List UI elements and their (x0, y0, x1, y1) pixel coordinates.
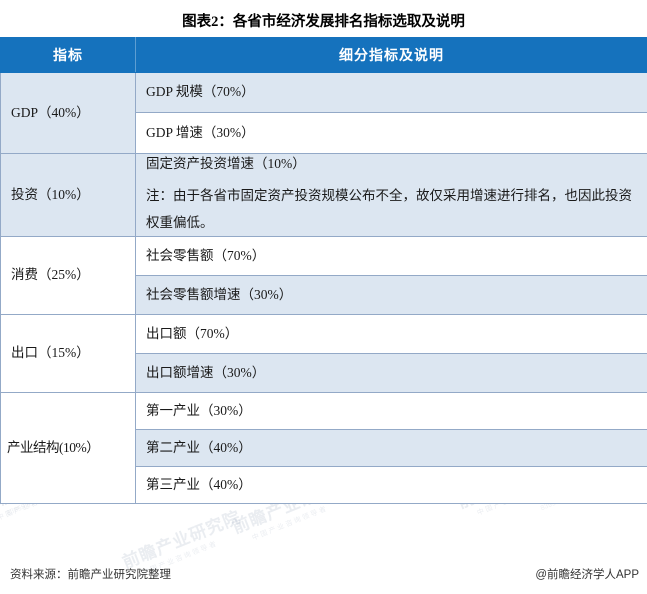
category-cell-investment: 投资（10%） (1, 154, 136, 237)
detail-cell: 社会零售额（70%） (136, 236, 647, 275)
app-attribution-label: @前瞻经济学人APP (535, 566, 639, 582)
category-cell-consumption: 消费（25%） (1, 236, 136, 314)
column-header-sub-indicator: 细分指标及说明 (136, 38, 647, 73)
category-cell-gdp: GDP（40%） (1, 73, 136, 154)
source-label: 资料来源：前瞻产业研究院整理 (10, 566, 171, 582)
category-cell-export: 出口（15%） (1, 314, 136, 392)
detail-cell: 出口额增速（30%） (136, 353, 647, 392)
detail-cell: 第三产业（40%） (136, 466, 647, 503)
indicator-spec-table: 指标 细分指标及说明 GDP（40%） GDP 规模（70%） GDP 增速（3… (0, 37, 647, 504)
detail-note-text: 注：由于各省市固定资产投资规模公布不全，故仅采用增速进行排名，也因此投资权重偏低… (146, 183, 637, 236)
watermark-main-text: 前瞻产业研究院 (118, 503, 244, 573)
table-row: 消费（25%） 社会零售额（70%） (1, 236, 647, 275)
detail-cell: 社会零售额增速（30%） (136, 275, 647, 314)
detail-cell: GDP 增速（30%） (136, 113, 647, 154)
category-cell-industry-structure: 产业结构(10%） (1, 392, 136, 503)
column-header-indicator: 指标 (1, 38, 136, 73)
table-row: 投资（10%） 固定资产投资增速（10%） 注：由于各省市固定资产投资规模公布不… (1, 154, 647, 237)
detail-cell: 出口额（70%） (136, 314, 647, 353)
detail-text: 固定资产投资增速（10%） (146, 154, 637, 174)
footer: 资料来源：前瞻产业研究院整理 @前瞻经济学人APP (0, 566, 647, 584)
table-row: 产业结构(10%） 第一产业（30%） (1, 392, 647, 429)
detail-cell-with-note: 固定资产投资增速（10%） 注：由于各省市固定资产投资规模公布不全，故仅采用增速… (136, 154, 647, 237)
detail-cell: GDP 规模（70%） (136, 73, 647, 113)
spec-table-container: 指标 细分指标及说明 GDP（40%） GDP 规模（70%） GDP 增速（3… (0, 37, 647, 504)
detail-cell: 第一产业（30%） (136, 392, 647, 429)
page-title: 图表2：各省市经济发展排名指标选取及说明 (0, 10, 647, 31)
table-header-row: 指标 细分指标及说明 (1, 38, 647, 73)
table-row: GDP（40%） GDP 规模（70%） (1, 73, 647, 113)
detail-cell: 第二产业（40%） (136, 429, 647, 466)
table-row: 出口（15%） 出口额（70%） (1, 314, 647, 353)
